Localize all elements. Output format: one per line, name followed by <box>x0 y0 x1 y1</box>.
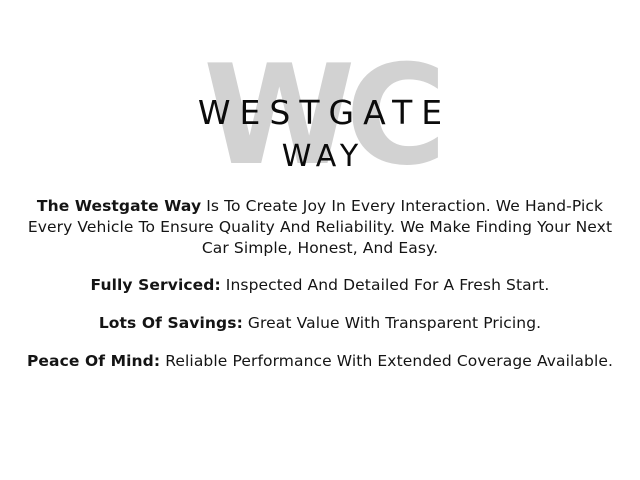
benefit-fully-serviced-body: Inspected And Detailed For A Fresh Start… <box>221 276 550 294</box>
benefit-peace-of-mind: Peace Of Mind: Reliable Performance With… <box>14 351 626 372</box>
brand-wordmark: WESTGATE WAY <box>0 52 640 180</box>
brand-logo-lockup: WC WESTGATE WAY <box>0 52 640 180</box>
benefit-fully-serviced-lead: Fully Serviced: <box>91 276 221 294</box>
brand-name-secondary: WAY <box>0 142 640 172</box>
marketing-copy: The Westgate Way Is To Create Joy In Eve… <box>14 196 626 372</box>
benefit-lots-of-savings-body: Great Value With Transparent Pricing. <box>243 314 541 332</box>
benefit-peace-of-mind-lead: Peace Of Mind: <box>27 352 160 370</box>
benefit-lots-of-savings-lead: Lots Of Savings: <box>99 314 243 332</box>
benefit-fully-serviced: Fully Serviced: Inspected And Detailed F… <box>14 275 626 296</box>
intro-lead: The Westgate Way <box>37 197 201 215</box>
benefit-lots-of-savings: Lots Of Savings: Great Value With Transp… <box>14 313 626 334</box>
brand-name-primary: WESTGATE <box>0 96 640 129</box>
dealership-info-banner: WC WESTGATE WAY The Westgate Way Is To C… <box>0 0 640 480</box>
intro-paragraph: The Westgate Way Is To Create Joy In Eve… <box>14 196 626 259</box>
benefit-peace-of-mind-body: Reliable Performance With Extended Cover… <box>160 352 613 370</box>
